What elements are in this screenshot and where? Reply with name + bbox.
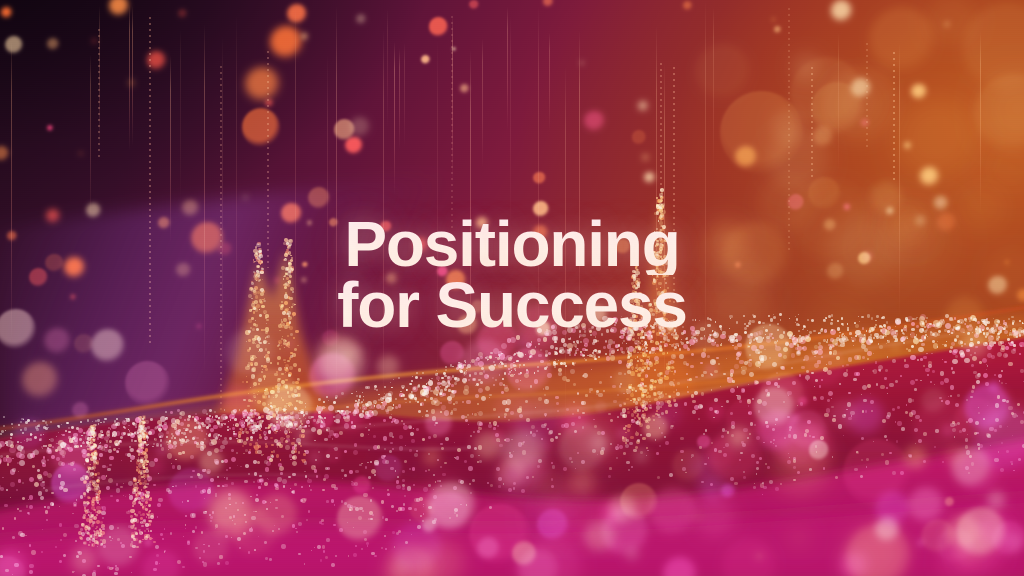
wave-particle — [886, 415, 890, 419]
spike-particle — [252, 338, 256, 342]
wave-particle — [766, 336, 770, 340]
wave-particle — [266, 461, 271, 466]
spike-particle — [623, 414, 626, 417]
spike-particle — [641, 392, 645, 396]
wave-particle — [363, 493, 368, 498]
wave-particle — [388, 391, 393, 396]
spike-particle — [148, 504, 152, 508]
wave-particle — [1005, 383, 1007, 385]
wave-particle — [911, 420, 912, 421]
wave-particle — [658, 343, 661, 346]
ridge-sparkle — [646, 350, 648, 352]
spike-particle — [625, 442, 628, 445]
wave-particle — [180, 438, 186, 444]
wave-particle — [299, 418, 300, 419]
wave-particle — [201, 444, 207, 450]
wave-particle — [209, 418, 214, 423]
wave-particle — [971, 364, 974, 367]
wave-particle — [124, 421, 126, 423]
spike-particle — [262, 369, 263, 370]
spike-particle — [91, 534, 96, 539]
wave-particle — [997, 352, 1002, 357]
spike-particle — [134, 531, 137, 534]
wave-particle — [765, 463, 767, 465]
spike-particle — [257, 444, 259, 446]
wave-particle — [641, 369, 644, 372]
ridge-sparkle — [634, 348, 635, 349]
wave-particle — [196, 437, 199, 440]
spike-particle — [255, 400, 256, 401]
spike-particle — [139, 420, 143, 424]
spike-particle — [100, 534, 103, 537]
spike-particle — [655, 341, 659, 345]
wave-particle — [270, 502, 271, 503]
wave-particle — [970, 396, 973, 399]
wave-particle — [792, 381, 796, 385]
wave-particle — [2, 477, 3, 478]
spike-particle — [643, 355, 645, 357]
ridge-sparkle — [187, 418, 190, 421]
wave-particle — [813, 396, 817, 400]
wave-particle — [351, 482, 355, 486]
wave-particle — [778, 378, 780, 380]
spike-particle — [93, 500, 95, 502]
wave-particle — [941, 400, 943, 402]
wave-particle — [292, 425, 296, 429]
wave-particle — [242, 410, 248, 416]
wave-particle — [372, 410, 378, 416]
ridge-sparkle — [523, 364, 525, 366]
wave-particle — [135, 514, 138, 517]
wave-particle — [1000, 341, 1004, 345]
wave-particle — [314, 466, 316, 468]
bokeh-dot — [452, 47, 456, 51]
wave-particle — [887, 356, 888, 357]
ridge-sparkle — [91, 437, 93, 439]
wave-particle — [910, 355, 915, 360]
wave-particle — [663, 423, 664, 424]
ridge-sparkle — [644, 346, 645, 347]
wave-particle — [592, 342, 596, 346]
wave-particle — [752, 398, 755, 401]
wave-particle — [913, 338, 919, 344]
spike-particle — [96, 462, 99, 465]
ridge-sparkle — [148, 444, 149, 445]
spike-particle — [135, 528, 136, 529]
wave-particle — [546, 399, 548, 401]
wave-particle — [167, 453, 173, 459]
wave-particle — [501, 391, 504, 394]
spike-particle — [277, 387, 280, 390]
wave-particle — [813, 397, 817, 401]
spike-particle — [135, 532, 138, 535]
spike-particle — [264, 390, 266, 392]
wave-particle — [591, 369, 592, 370]
ridge-sparkle — [1013, 344, 1016, 347]
wave-particle — [437, 385, 440, 388]
wave-particle — [4, 504, 7, 507]
wave-particle — [529, 353, 534, 358]
spike-particle — [92, 438, 95, 441]
spike-particle — [632, 398, 634, 400]
ridge-sparkle — [167, 444, 168, 445]
spike-particle — [140, 460, 143, 463]
spike-particle — [135, 514, 138, 517]
ridge-sparkle — [270, 416, 272, 418]
wave-particle — [529, 343, 532, 346]
spike-particle — [659, 348, 663, 352]
bokeh-dot — [265, 99, 273, 107]
ridge-sparkle — [961, 345, 963, 347]
wave-particle — [175, 485, 177, 487]
wave-particle — [846, 409, 848, 411]
wave-particle — [571, 422, 575, 426]
wave-particle — [322, 489, 325, 492]
spike-particle — [142, 506, 144, 508]
wave-particle — [7, 463, 10, 466]
ridge-sparkle — [680, 341, 682, 343]
wave-particle — [731, 421, 735, 425]
wave-particle — [475, 394, 479, 398]
wave-particle — [83, 502, 88, 507]
wave-particle — [47, 459, 49, 461]
spike-particle — [286, 435, 290, 439]
wave-particle — [344, 417, 350, 423]
wave-particle — [435, 386, 440, 391]
ridge-sparkle — [473, 378, 476, 381]
spike-particle — [258, 383, 261, 386]
spike-particle — [669, 396, 671, 398]
wave-particle — [298, 522, 302, 526]
spike-particle — [144, 534, 148, 538]
wave-particle — [483, 370, 486, 373]
wave-particle — [381, 455, 385, 459]
ridge-sparkle — [411, 395, 414, 398]
wave-particle — [748, 362, 752, 366]
wave-particle — [522, 450, 527, 455]
wave-particle — [840, 343, 844, 347]
wave-particle — [199, 557, 202, 560]
wave-particle — [689, 339, 695, 345]
wave-particle — [296, 531, 299, 534]
ridge-sparkle — [98, 445, 101, 448]
spike-particle — [652, 415, 655, 418]
spike-particle — [88, 502, 90, 504]
spike-particle — [646, 365, 649, 368]
bokeh-dot — [580, 61, 584, 65]
wave-particle — [773, 443, 774, 444]
wave-particle — [404, 495, 406, 497]
wave-particle — [780, 366, 784, 370]
wave-particle — [496, 438, 500, 442]
wave-particle — [839, 339, 840, 340]
ridge-sparkle — [83, 432, 85, 434]
spike-particle — [140, 522, 142, 524]
wave-particle — [671, 354, 676, 359]
ridge-sparkle — [10, 433, 13, 436]
wave-particle — [869, 339, 873, 343]
wave-particle — [326, 454, 330, 458]
spike-particle — [87, 509, 89, 511]
wave-particle — [403, 503, 406, 506]
spike-particle — [90, 439, 93, 442]
wave-particle — [474, 361, 479, 366]
wave-particle — [731, 434, 734, 437]
ridge-sparkle — [250, 436, 253, 439]
wave-particle — [82, 475, 87, 480]
spike-particle — [91, 452, 95, 456]
wave-particle — [753, 486, 756, 489]
wave-particle — [659, 445, 661, 447]
spike-particle — [654, 380, 657, 383]
spike-particle — [298, 400, 301, 403]
wave-particle — [478, 445, 483, 450]
spike-particle — [634, 417, 636, 419]
ridge-sparkle — [35, 426, 38, 429]
spike-particle — [638, 399, 640, 401]
spike-particle — [99, 480, 100, 481]
spike-particle — [653, 419, 656, 422]
wave-particle — [773, 439, 775, 441]
spike-particle — [141, 447, 143, 449]
wave-particle — [339, 410, 343, 414]
wave-particle — [758, 361, 761, 364]
wave-particle — [247, 414, 253, 420]
spike-particle — [254, 362, 258, 366]
spike-particle — [143, 486, 147, 490]
spike-particle — [100, 530, 101, 531]
ridge-sparkle — [127, 433, 130, 436]
wave-particle — [405, 402, 407, 404]
wave-particle — [328, 435, 331, 438]
spike-particle — [90, 472, 94, 476]
spike-particle — [246, 381, 248, 383]
wave-particle — [428, 380, 433, 385]
spike-particle — [294, 450, 297, 453]
wave-particle — [766, 338, 772, 344]
spike-particle — [139, 540, 141, 542]
ridge-sparkle — [567, 349, 570, 352]
wave-particle — [383, 455, 385, 457]
ridge-sparkle — [159, 424, 162, 427]
wave-particle — [714, 370, 718, 374]
wave-particle — [1020, 369, 1024, 373]
wave-particle — [333, 524, 336, 527]
wave-particle — [656, 401, 660, 405]
spike-particle — [137, 450, 140, 453]
wave-particle — [759, 457, 762, 460]
ridge-sparkle — [440, 393, 441, 394]
ridge-sparkle — [87, 437, 90, 440]
wave-particle — [712, 338, 715, 341]
ridge-sparkle — [119, 441, 121, 443]
wave-particle — [290, 416, 294, 420]
wave-particle — [57, 446, 62, 451]
ridge-sparkle — [627, 350, 630, 353]
wave-particle — [370, 518, 373, 521]
wave-particle — [441, 447, 444, 450]
ridge-sparkle — [186, 428, 189, 431]
ridge-sparkle — [638, 347, 641, 350]
spike-particle — [145, 495, 147, 497]
wave-particle — [6, 440, 13, 447]
ridge-sparkle — [609, 353, 611, 355]
wave-particle — [833, 350, 838, 355]
wave-particle — [479, 460, 482, 463]
ridge-sparkle — [451, 390, 454, 393]
wave-particle — [601, 447, 605, 451]
ridge-sparkle — [901, 340, 903, 342]
spike-particle — [130, 519, 134, 523]
ridge-sparkle — [20, 442, 22, 444]
wave-particle — [315, 459, 317, 461]
wave-particle — [551, 478, 554, 481]
wave-particle — [274, 483, 279, 488]
ridge-sparkle — [681, 342, 684, 345]
spike-particle — [254, 409, 256, 411]
wave-particle — [389, 432, 394, 437]
wave-particle — [550, 438, 554, 442]
wave-particle — [245, 419, 248, 422]
spike-particle — [142, 482, 145, 485]
wave-particle — [847, 402, 852, 407]
spike-particle — [141, 427, 144, 430]
ridge-sparkle — [71, 426, 74, 429]
ridge-sparkle — [150, 418, 153, 421]
spike-particle — [645, 407, 646, 408]
wave-particle — [691, 457, 693, 459]
wave-particle — [701, 352, 707, 358]
spike-particle — [152, 538, 153, 539]
wave-particle — [775, 344, 778, 347]
wave-particle — [182, 451, 185, 454]
spike-particle — [140, 472, 143, 475]
wave-particle — [775, 487, 779, 491]
wave-particle — [495, 433, 499, 437]
wave-particle — [695, 376, 698, 379]
ridge-sparkle — [374, 385, 377, 388]
wave-particle — [121, 460, 122, 461]
wave-particle — [554, 353, 556, 355]
wave-particle — [14, 517, 17, 520]
spike-particle — [638, 346, 642, 350]
wave-particle — [856, 372, 860, 376]
wave-particle — [967, 434, 968, 435]
wave-particle — [577, 392, 579, 394]
wave-particle — [749, 372, 754, 377]
wave-particle — [12, 536, 15, 539]
spike-particle — [148, 530, 150, 532]
wave-particle — [364, 538, 367, 541]
spike-particle — [94, 533, 95, 534]
spike-particle — [656, 405, 660, 409]
ridge-sparkle — [487, 359, 489, 361]
wave-particle — [680, 450, 684, 454]
wave-particle — [741, 366, 747, 372]
spike-particle — [268, 404, 269, 405]
ridge-sparkle — [313, 419, 316, 422]
wave-particle — [466, 400, 470, 404]
spike-particle — [141, 472, 142, 473]
wave-particle — [47, 448, 51, 452]
wave-particle — [78, 551, 82, 555]
ridge-sparkle — [103, 421, 105, 423]
wave-particle — [556, 402, 559, 405]
bokeh-dot — [870, 182, 903, 215]
spike-particle — [656, 197, 658, 199]
ridge-sparkle — [198, 425, 201, 428]
wave-particle — [601, 431, 605, 435]
wave-particle — [355, 545, 357, 547]
wave-particle — [271, 425, 277, 431]
wave-particle — [631, 466, 633, 468]
ridge-sparkle — [250, 409, 253, 412]
spike-particle — [630, 400, 632, 402]
ridge-sparkle — [437, 373, 438, 374]
wave-particle — [256, 426, 258, 428]
wave-particle — [872, 370, 874, 372]
wave-particle — [405, 541, 408, 544]
ridge-sparkle — [823, 339, 826, 342]
wave-particle — [478, 388, 483, 393]
wave-particle — [437, 459, 439, 461]
wave-particle — [187, 540, 191, 544]
spike-particle — [247, 420, 251, 424]
wave-particle — [732, 380, 735, 383]
wave-particle — [897, 406, 900, 409]
wave-particle — [279, 466, 284, 471]
ridge-sparkle — [105, 447, 107, 449]
bokeh-dot — [356, 14, 367, 25]
wave-particle — [128, 481, 133, 486]
wave-particle — [830, 338, 834, 342]
wave-particle — [321, 420, 325, 424]
wave-particle — [564, 423, 568, 427]
wave-particle — [275, 484, 279, 488]
spike-particle — [253, 395, 256, 398]
ridge-sparkle — [1008, 342, 1010, 344]
wave-particle — [884, 377, 887, 380]
spike-particle — [92, 427, 94, 429]
wave-particle — [809, 435, 811, 437]
ridge-sparkle — [26, 438, 29, 441]
wave-particle — [646, 455, 647, 456]
spike-particle — [97, 510, 101, 514]
wave-particle — [182, 501, 184, 503]
wave-particle — [748, 405, 750, 407]
spike-particle — [84, 481, 86, 483]
ridge-sparkle — [404, 398, 406, 400]
wave-particle — [817, 349, 823, 355]
ridge-sparkle — [158, 428, 161, 431]
ridge-sparkle — [842, 336, 845, 339]
spike-particle — [144, 487, 145, 488]
spike-particle — [144, 467, 147, 470]
wave-particle — [1000, 348, 1005, 353]
spike-particle — [145, 497, 149, 501]
wave-particle — [162, 538, 164, 540]
wave-particle — [99, 453, 103, 457]
wave-particle — [198, 422, 202, 426]
wave-particle — [117, 451, 119, 453]
spike-particle — [641, 414, 645, 418]
wave-particle — [284, 419, 285, 420]
spike-particle — [622, 414, 625, 417]
wave-particle — [959, 350, 964, 355]
wave-particle — [795, 347, 798, 350]
ridge-sparkle — [573, 341, 575, 343]
wave-particle — [396, 510, 399, 513]
